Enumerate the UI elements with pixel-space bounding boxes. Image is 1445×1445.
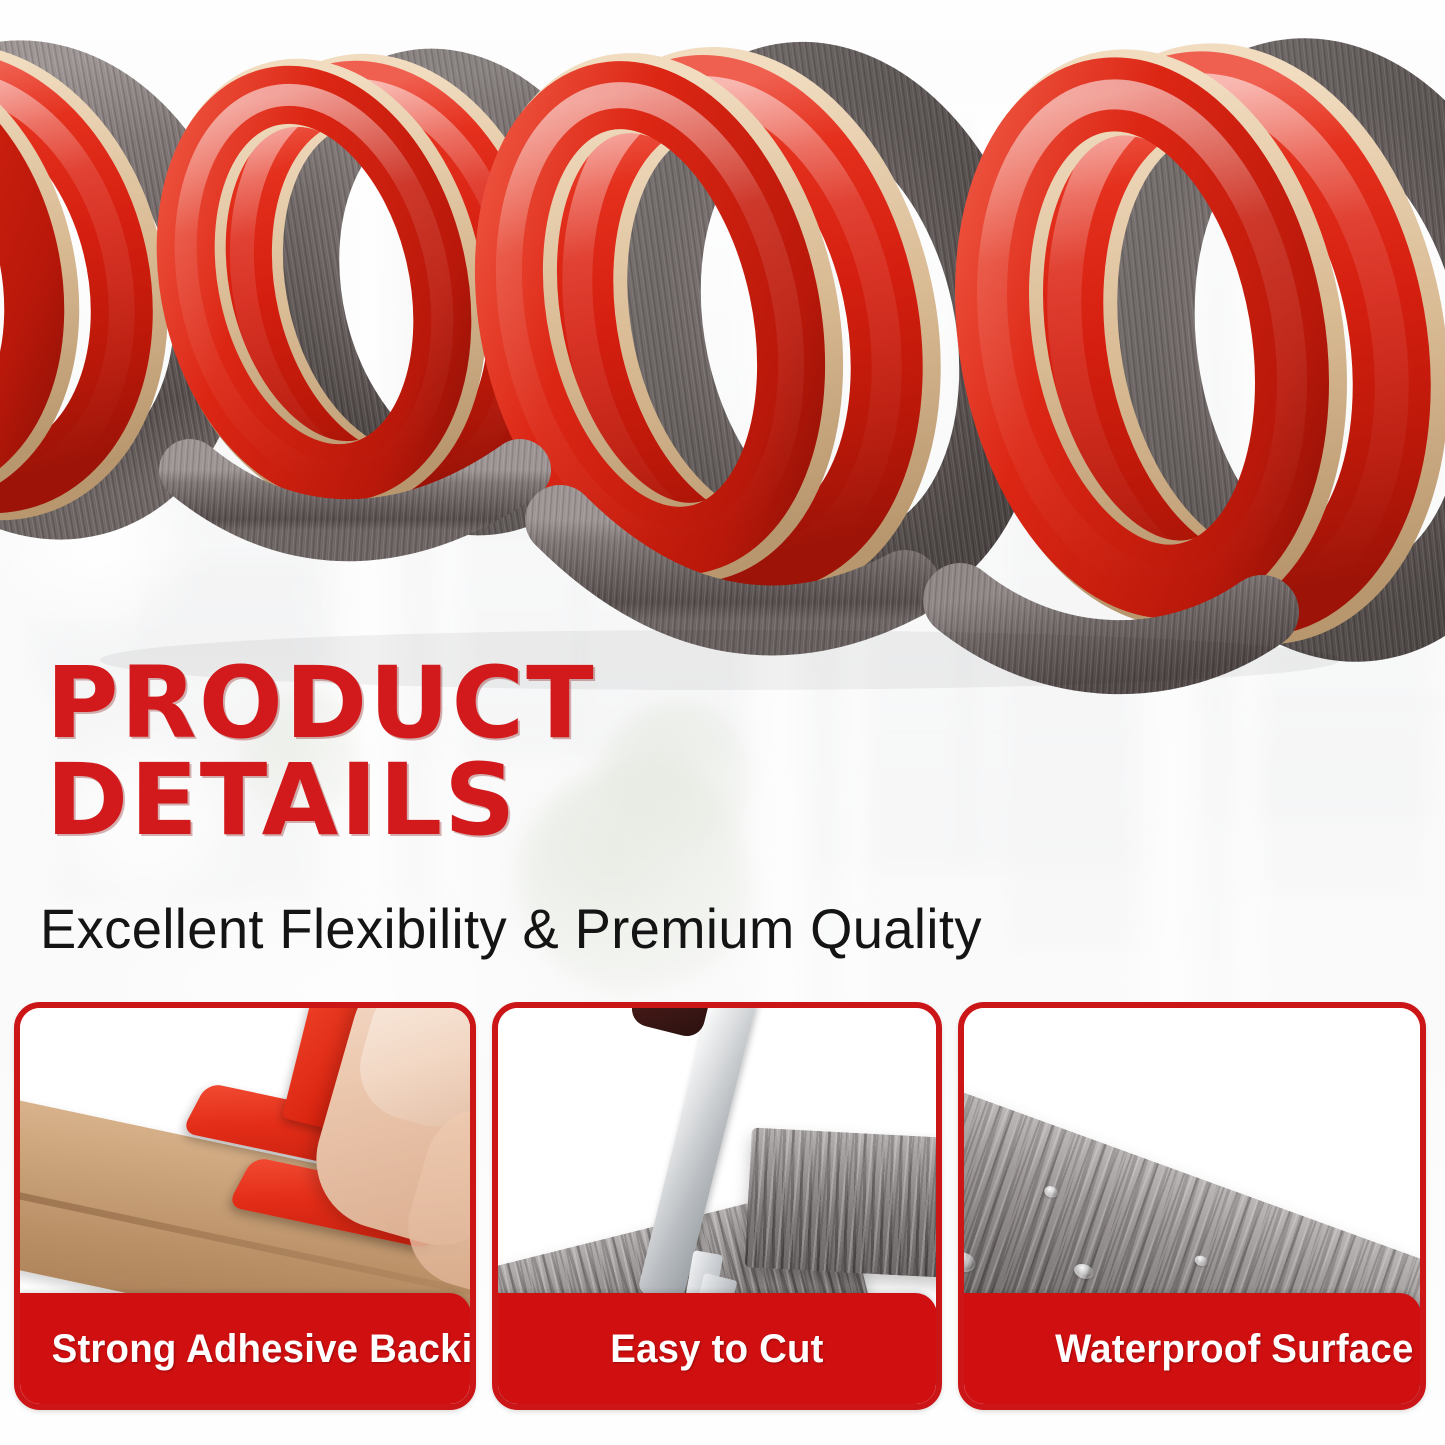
feature-panel-row: Strong Adhesive Backing Easy to Cut (0, 1002, 1445, 1414)
water-droplet (1193, 1254, 1209, 1268)
coil-illustration (0, 0, 1445, 700)
feature-panel-adhesive[interactable]: Strong Adhesive Backing (14, 1002, 476, 1410)
coiled-tape-hero (0, 0, 1445, 700)
page-title-line-2: DETAILS (46, 752, 1146, 849)
page-title: PRODUCT DETAILS (46, 655, 1146, 849)
page-subtitle: Excellent Flexibility & Premium Quality (40, 898, 1185, 960)
feature-panel-waterproof[interactable]: Waterproof Surface (958, 1002, 1426, 1410)
feature-caption-bar-cut: Easy to Cut (497, 1293, 937, 1405)
water-droplet (1072, 1261, 1096, 1281)
feature-caption-bar-waterproof: Waterproof Surface (963, 1293, 1421, 1405)
feature-caption-text: Easy to Cut (497, 1327, 824, 1372)
feature-caption-text: Strong Adhesive Backing (19, 1327, 476, 1372)
page-title-line-1: PRODUCT (46, 655, 1146, 752)
feature-panel-cut[interactable]: Easy to Cut (492, 1002, 942, 1410)
feature-caption-bar-adhesive: Strong Adhesive Backing (19, 1293, 471, 1405)
water-droplet (1043, 1184, 1060, 1199)
water-droplet (964, 1249, 978, 1276)
woodgrain-strip-right (745, 1127, 936, 1284)
product-detail-graphic: PRODUCT DETAILS Excellent Flexibility & … (0, 0, 1445, 1445)
feature-caption-text: Waterproof Surface (963, 1327, 1414, 1372)
coil-loop-4 (956, 55, 1445, 645)
